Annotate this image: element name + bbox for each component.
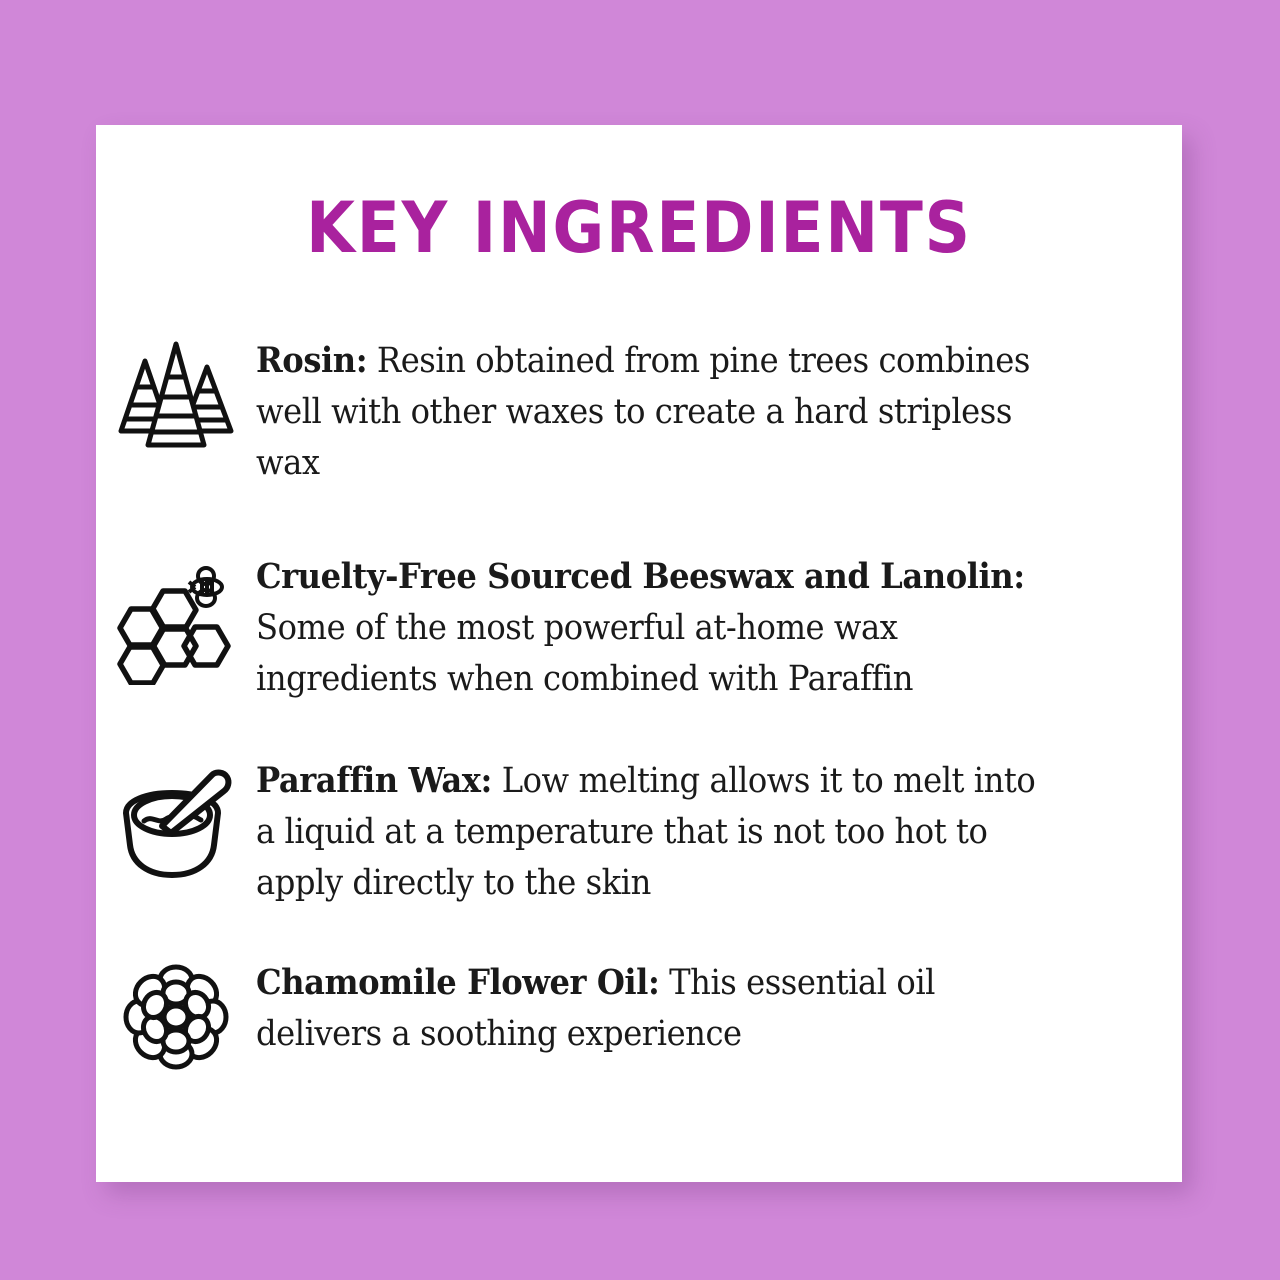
list-item: Rosin: Resin obtained from pine trees co… (96, 335, 1182, 489)
ingredient-text: Rosin: Resin obtained from pine trees co… (256, 335, 1108, 489)
ingredients-card: KEY INGREDIENTS (96, 125, 1182, 1182)
list-item: Paraffin Wax: Low melting allows it to m… (96, 755, 1182, 909)
pine-trees-icon (96, 335, 256, 451)
ingredient-text: Cruelty-Free Sourced Beeswax and Lanolin… (256, 551, 1108, 705)
ingredient-term: Paraffin Wax: (256, 760, 492, 801)
ingredient-term: Chamomile Flower Oil: (256, 962, 659, 1003)
honeycomb-bee-icon (96, 551, 256, 685)
page-title: KEY INGREDIENTS (150, 193, 1127, 263)
ingredient-text: Paraffin Wax: Low melting allows it to m… (256, 755, 1108, 909)
wax-pot-applicator-icon (96, 755, 256, 881)
ingredient-term: Cruelty-Free Sourced Beeswax and Lanolin… (256, 556, 1025, 597)
poster-stage: KEY INGREDIENTS (0, 0, 1280, 1280)
ingredient-description: Resin obtained from pine trees combines … (256, 341, 1030, 483)
ingredient-description: Some of the most powerful at-home wax in… (256, 608, 913, 699)
ingredient-term: Rosin: (256, 340, 367, 381)
list-item: Chamomile Flower Oil: This essential oil… (96, 957, 1182, 1071)
ingredient-list: Rosin: Resin obtained from pine trees co… (96, 335, 1182, 1071)
ingredient-text: Chamomile Flower Oil: This essential oil… (256, 957, 1108, 1060)
chamomile-flower-icon (96, 957, 256, 1071)
list-item: Cruelty-Free Sourced Beeswax and Lanolin… (96, 551, 1182, 705)
